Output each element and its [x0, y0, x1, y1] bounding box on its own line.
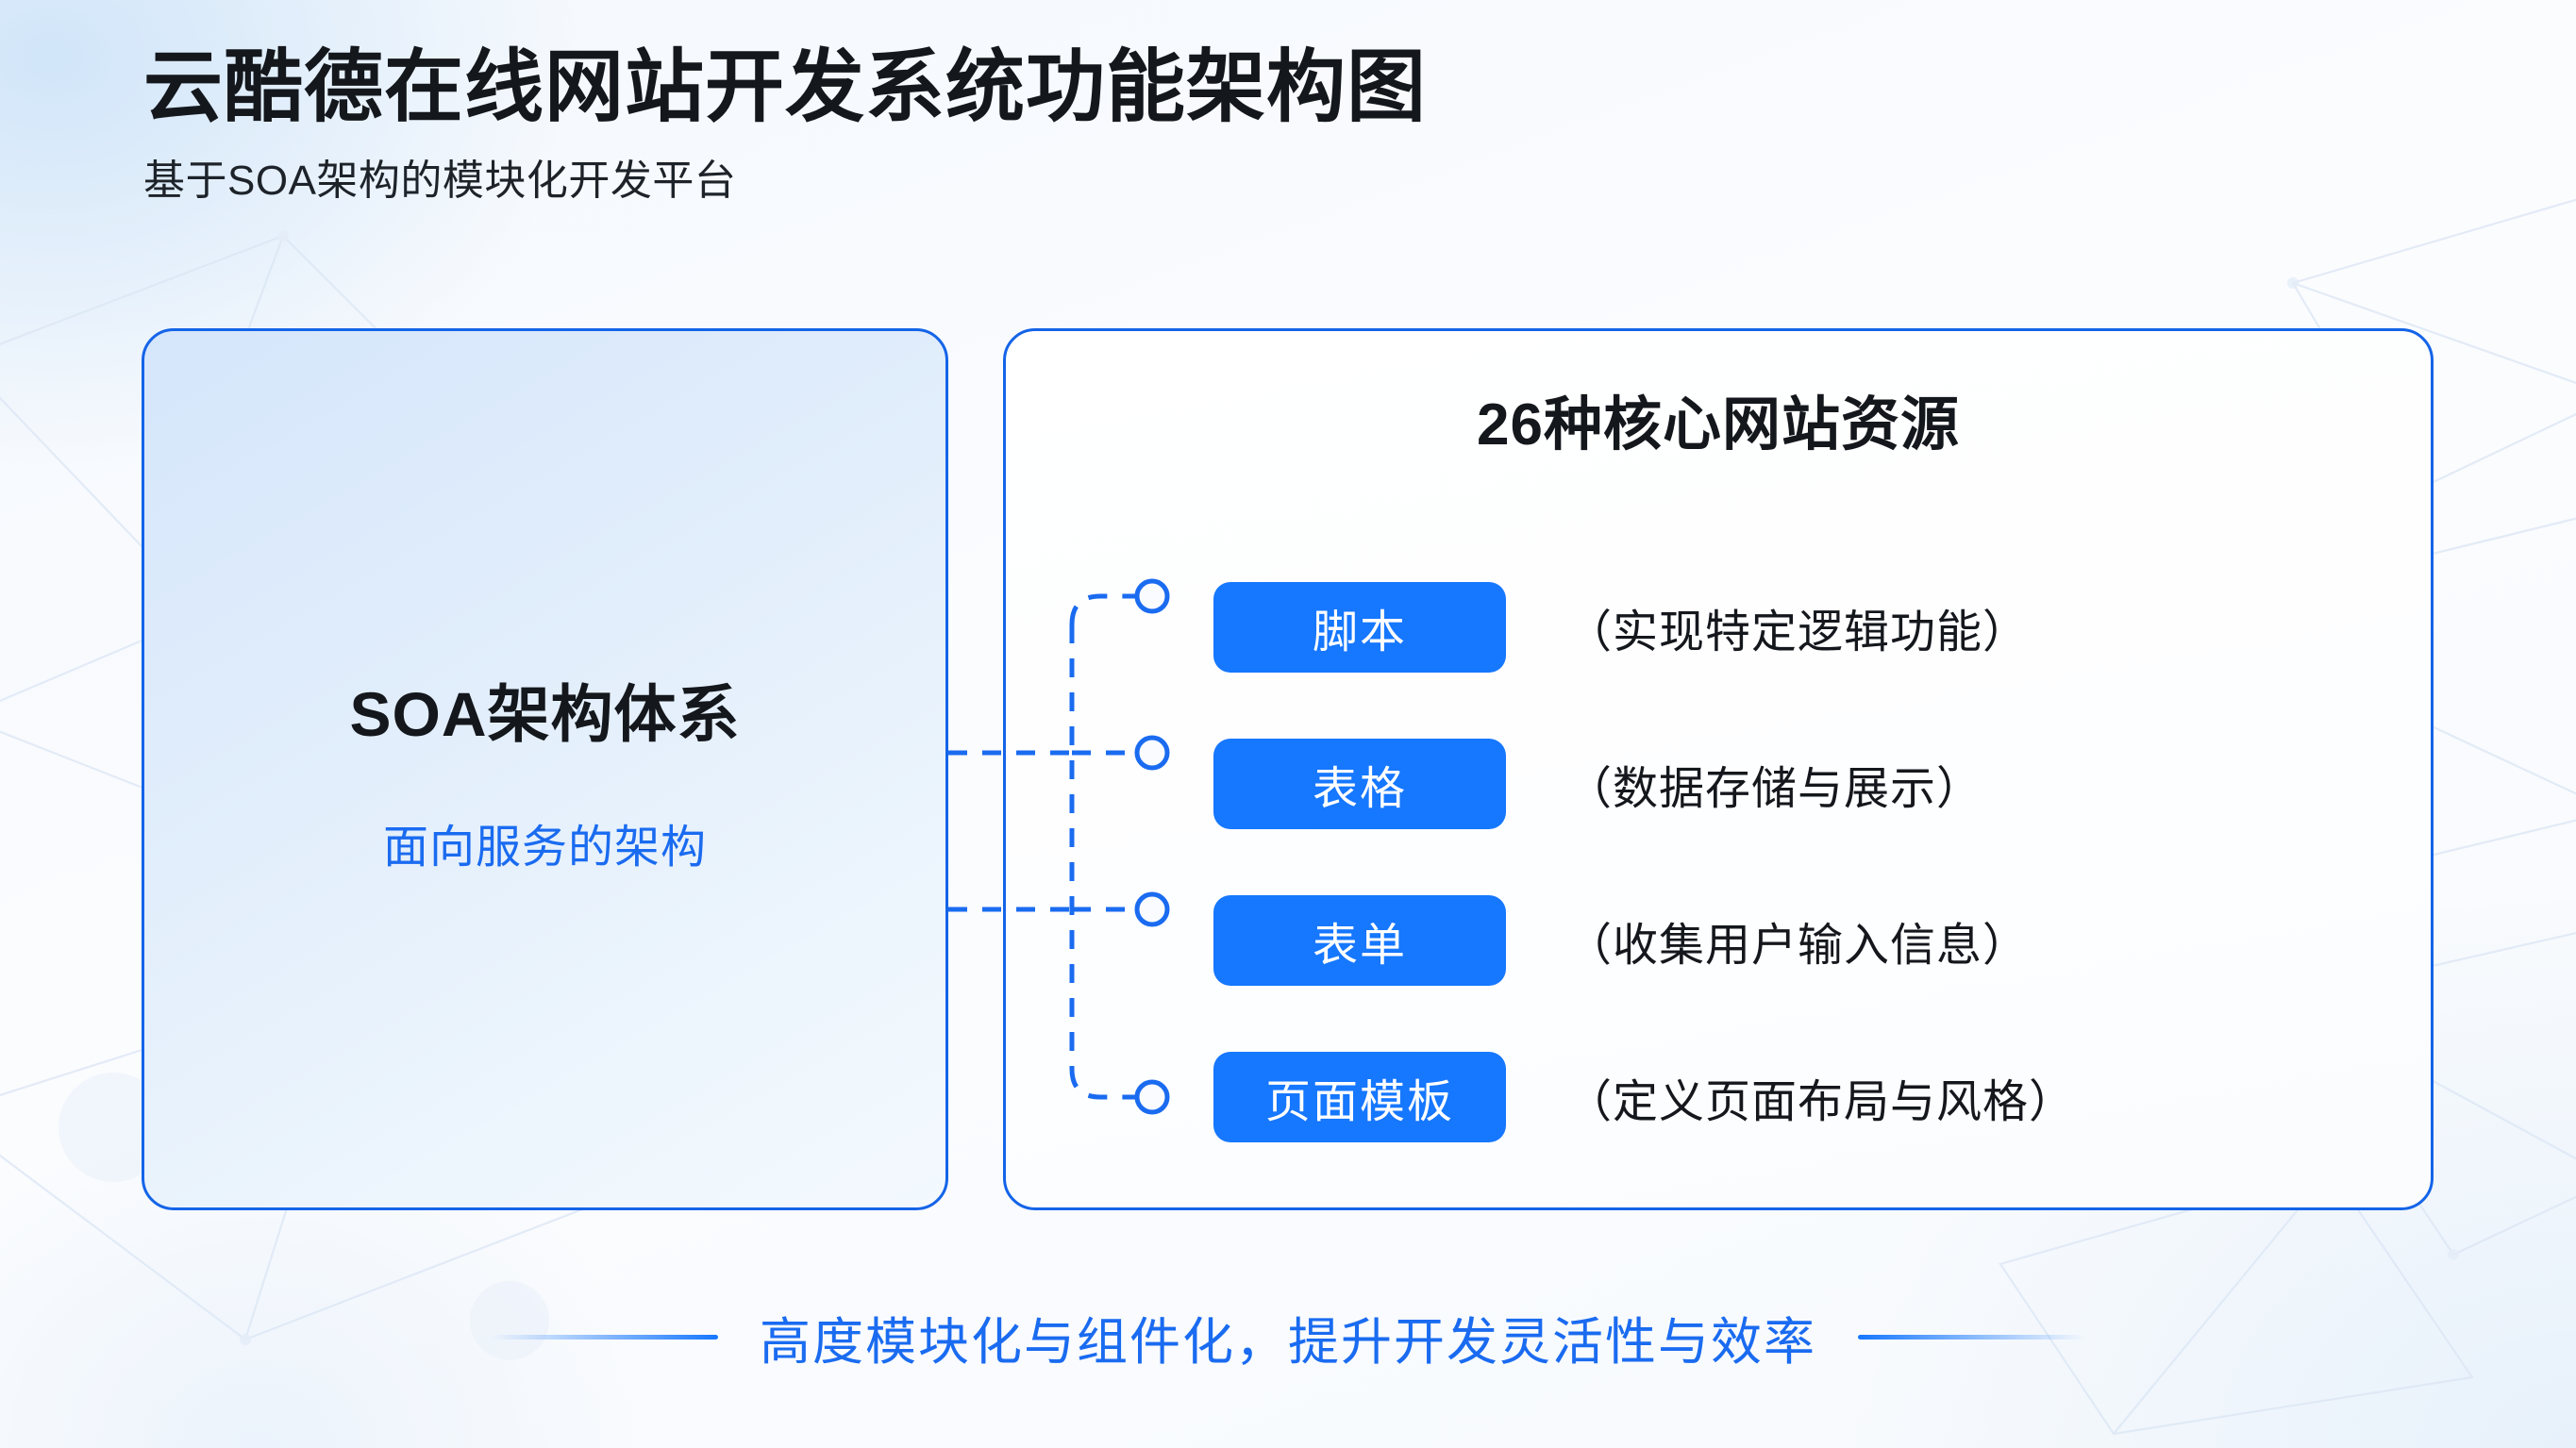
resource-row[interactable]: 脚本 （实现特定逻辑功能） [1213, 582, 2402, 673]
resource-description: （收集用户输入信息） [1566, 907, 2029, 974]
resource-row[interactable]: 页面模板 （定义页面布局与风格） [1213, 1052, 2402, 1142]
resource-badge[interactable]: 页面模板 [1213, 1052, 1506, 1142]
resource-badge[interactable]: 表单 [1213, 895, 1506, 986]
page-subtitle: 基于SOA架构的模块化开发平台 [143, 146, 1427, 207]
resource-description: （数据存储与展示） [1566, 751, 1982, 817]
resource-row[interactable]: 表格 （数据存储与展示） [1213, 739, 2402, 829]
resource-description: （定义页面布局与风格） [1566, 1064, 2075, 1130]
page-title: 云酷德在线网站开发系统功能架构图 [143, 42, 1427, 131]
header: 云酷德在线网站开发系统功能架构图 基于SOA架构的模块化开发平台 [143, 42, 1427, 207]
architecture-diagram-page: 云酷德在线网站开发系统功能架构图 基于SOA架构的模块化开发平台 SOA架构体系… [0, 0, 2576, 1448]
resource-list: 脚本 （实现特定逻辑功能） 表格 （数据存储与展示） 表单 （收集用户输入信息）… [1006, 331, 2431, 1207]
footer-text: 高度模块化与组件化，提升开发灵活性与效率 [760, 1300, 1816, 1374]
resource-badge[interactable]: 表格 [1213, 739, 1506, 829]
resource-badge[interactable]: 脚本 [1213, 582, 1506, 673]
soa-architecture-card[interactable]: SOA架构体系 面向服务的架构 [142, 328, 948, 1210]
resource-description: （实现特定逻辑功能） [1566, 594, 2029, 660]
resource-row[interactable]: 表单 （收集用户输入信息） [1213, 895, 2402, 986]
soa-card-title: SOA架构体系 [349, 664, 740, 755]
footer: 高度模块化与组件化，提升开发灵活性与效率 [0, 1300, 2576, 1374]
soa-card-subtitle: 面向服务的架构 [383, 809, 707, 875]
footer-rule-left [492, 1335, 718, 1340]
footer-rule-right [1858, 1335, 2084, 1340]
core-resources-card[interactable]: 26种核心网站资源 脚本 （实现特定逻辑功能） 表格 （数据存储与展示） 表单 … [1003, 328, 2434, 1210]
